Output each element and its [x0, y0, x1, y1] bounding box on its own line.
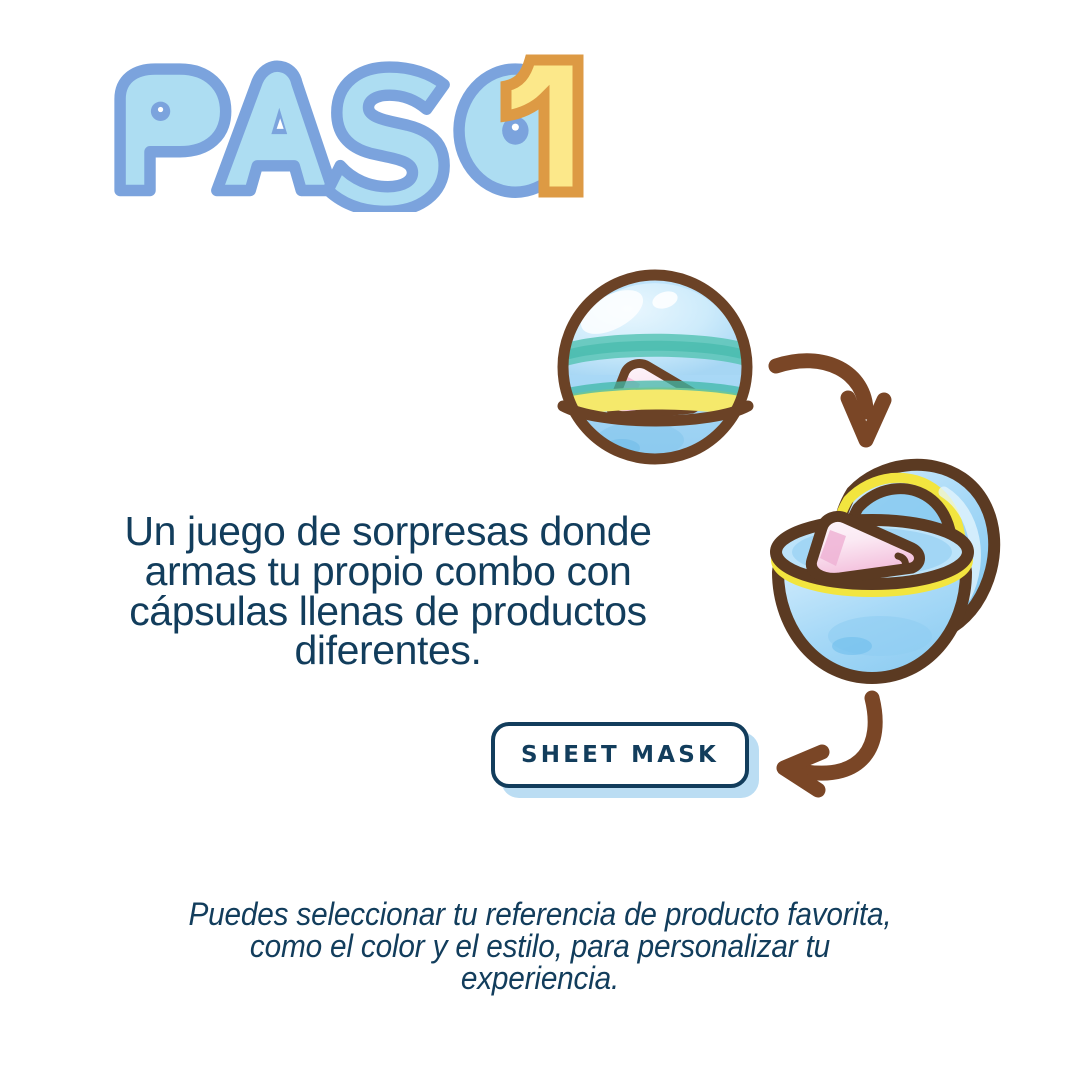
arrow-top-icon	[776, 361, 884, 440]
poster-canvas: Un juego de sorpresas donde armas tu pro…	[0, 0, 1080, 1080]
sheet-mask-button[interactable]: SHEET MASK	[491, 722, 759, 798]
paso-heading-art	[100, 52, 620, 212]
capsule-bowl	[776, 516, 968, 678]
footer-note-text: Puedes seleccionar tu referencia de prod…	[122, 898, 959, 994]
sheet-mask-roll-open	[811, 516, 919, 578]
button-face[interactable]: SHEET MASK	[491, 722, 749, 788]
closed-capsule	[556, 275, 756, 459]
page-title	[100, 52, 620, 212]
main-description-text: Un juego de sorpresas donde armas tu pro…	[88, 512, 688, 671]
capsule-lid	[834, 465, 994, 642]
open-capsule	[776, 465, 994, 678]
sheet-mask-roll-closed	[611, 364, 698, 416]
heading-letter-s	[328, 67, 444, 211]
heading-letter-a	[217, 66, 333, 190]
arrow-bottom-icon	[784, 698, 875, 790]
heading-letter-p	[120, 69, 226, 190]
button-label: SHEET MASK	[521, 742, 719, 768]
